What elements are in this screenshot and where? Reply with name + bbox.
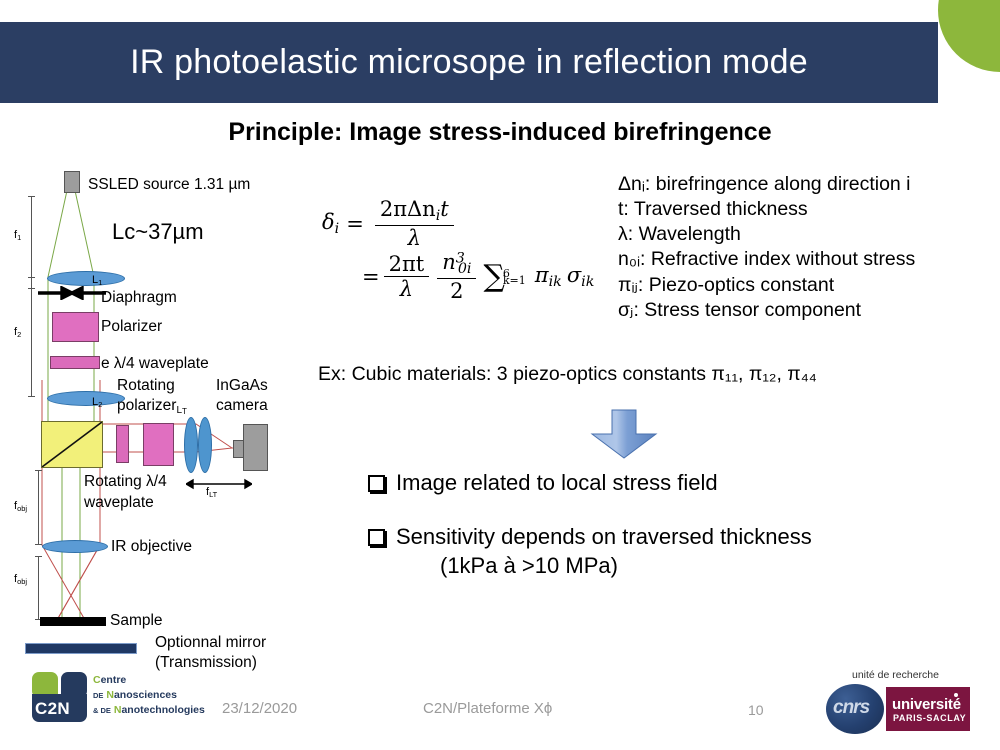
ssled-source <box>64 171 80 193</box>
cnrs-logo: cnrs <box>826 684 884 734</box>
eq-fraction-1: 2πΔnit λ <box>375 198 454 249</box>
bullet-item-1: Sensitivity depends on traversed thickne… <box>368 522 812 581</box>
ssled-source-label: SSLED source 1.31 µm <box>88 176 250 194</box>
c2n-tagline-line2: DE Nanosciences <box>93 688 205 703</box>
axis-tick-fobj-a <box>35 470 42 471</box>
ups-line2: PARIS-SACLAY <box>893 713 966 723</box>
c2n-wordmark: C2N <box>35 699 70 719</box>
rotating-qwp-element <box>116 425 129 463</box>
conclusion-bullets: Image related to local stress field Sens… <box>368 468 812 605</box>
beam-splitter-cube <box>41 421 103 468</box>
slide-root: IR photoelastic microsope in reflection … <box>0 0 1000 750</box>
c2n-logo-mark: C2N <box>30 672 88 722</box>
example-line: Ex: Cubic materials: 3 piezo-optics cons… <box>318 363 817 386</box>
label-fobj-upper: fobj <box>14 500 27 513</box>
ir-objective-label: IR objective <box>111 538 192 556</box>
legend-item-3: n₀ᵢ: Refractive index without stress <box>618 247 915 272</box>
camera-label-line1: InGaAs <box>216 377 268 395</box>
eq-delta: δi <box>322 210 339 237</box>
label-f2: f2 <box>14 326 21 339</box>
cnrs-wordmark: cnrs <box>833 697 869 719</box>
eq-summation: ∑ 6 k=1 <box>483 259 525 294</box>
unite-de-recherche-label: unité de recherche <box>852 669 939 681</box>
slide-subtitle: Principle: Image stress-induced birefrin… <box>0 118 1000 147</box>
rotating-polarizer-label-line1: Rotating <box>117 377 175 395</box>
legend-item-1: t: Traversed thickness <box>618 197 915 222</box>
bullet-item-0: Image related to local stress field <box>368 468 812 498</box>
title-bar: IR photoelastic microsope in reflection … <box>0 22 938 103</box>
rotating-qwp-label-line2: waveplate <box>84 494 154 512</box>
legend-item-5: σⱼ: Stress tensor component <box>618 298 915 323</box>
bullet-subtext-1: (1kPa à >10 MPa) <box>440 551 812 581</box>
label-flt: fLT <box>206 486 217 499</box>
e-quarter-waveplate-label: e λ/4 waveplate <box>101 355 209 373</box>
green-circle-decoration <box>938 0 1000 72</box>
axis-tick-fobj-b <box>35 544 42 545</box>
c2n-tagline-line3: & DE Nanotechnologies <box>93 703 205 718</box>
footer-center-text: C2N/Plateforme Xϕ <box>423 700 552 717</box>
optional-mirror-label-line2: (Transmission) <box>155 654 257 672</box>
flt-dimension-arrow <box>186 478 252 490</box>
page-title: IR photoelastic microsope in reflection … <box>130 43 808 82</box>
ir-objective-lens <box>42 540 108 553</box>
label-fobj-lower: fobj <box>14 573 27 586</box>
axis-tick-fobj-c <box>35 556 42 557</box>
sample-element <box>40 617 106 626</box>
checkbox-bullet-icon <box>368 529 385 546</box>
polarizer-element <box>52 312 99 342</box>
axis-tick-bottom <box>28 396 35 397</box>
polarizer-label: Polarizer <box>101 318 162 336</box>
coherence-length-label: Lc~37µm <box>112 219 204 245</box>
ups-line1: université <box>892 696 961 713</box>
rotating-polarizer-element <box>143 423 174 466</box>
footer-page-number: 10 <box>748 702 764 718</box>
legend-item-0: Δnᵢ: birefringence along direction i <box>618 172 915 197</box>
axis-f1-f2 <box>31 196 32 396</box>
lens-l1 <box>47 271 125 286</box>
optional-mirror-label-line1: Optionnal mirror <box>155 634 266 652</box>
axis-tick-mid2 <box>28 288 35 289</box>
symbol-legend: Δnᵢ: birefringence along direction i t: … <box>618 172 915 323</box>
camera-label-line2: camera <box>216 397 268 415</box>
eq-sigma-term: σik <box>567 263 595 290</box>
axis-fobj-lower <box>38 556 39 620</box>
lens-l2 <box>47 391 125 406</box>
checkbox-bullet-icon <box>368 475 385 492</box>
label-f1: f1 <box>14 229 21 242</box>
ups-accent-dot <box>954 693 958 697</box>
eq-equals: = <box>346 212 364 236</box>
axis-tick-top <box>28 196 35 197</box>
eq-fraction-3: n30i 2 <box>437 251 476 302</box>
c2n-logo: C2N Centre DE Nanosciences & DE Nanotech… <box>30 672 220 724</box>
footer-date: 23/12/2020 <box>222 700 297 717</box>
optional-mirror-element <box>25 643 137 654</box>
lens-l2-label: L2 <box>92 396 102 409</box>
universite-paris-saclay-logo: université PARIS-SACLAY <box>886 687 970 731</box>
rotating-qwp-label-line1: Rotating λ/4 <box>84 473 167 491</box>
bullet-text-1: Sensitivity depends on traversed thickne… <box>396 524 812 549</box>
down-arrow-icon <box>588 408 660 460</box>
c2n-tagline-line1: Centre <box>93 673 205 688</box>
eq-fraction-2: 2πt λ <box>384 253 430 300</box>
bullet-text-0: Image related to local stress field <box>396 468 718 498</box>
diaphragm-label: Diaphragm <box>101 289 177 307</box>
axis-tick-mid <box>28 277 35 278</box>
legend-item-4: πᵢⱼ: Piezo-optics constant <box>618 273 915 298</box>
diaphragm-arrows <box>36 286 108 300</box>
lens-lt-b <box>198 417 212 473</box>
axis-fobj-upper <box>38 470 39 544</box>
birefringence-equation: δi = 2πΔnit λ = 2πt λ n30i 2 ∑ 6 k=1 <box>322 198 594 302</box>
c2n-tagline: Centre DE Nanosciences & DE Nanotechnolo… <box>93 673 205 718</box>
sample-label: Sample <box>110 612 163 630</box>
eq-pi-term: πik <box>535 263 562 290</box>
lens-lt-a <box>184 417 198 473</box>
legend-item-2: λ: Wavelength <box>618 222 915 247</box>
eq-equals-2: = <box>362 265 380 289</box>
rotating-polarizer-label-line2: polarizerLT <box>117 397 187 416</box>
e-quarter-waveplate-element <box>50 356 100 369</box>
camera-body <box>243 424 268 471</box>
